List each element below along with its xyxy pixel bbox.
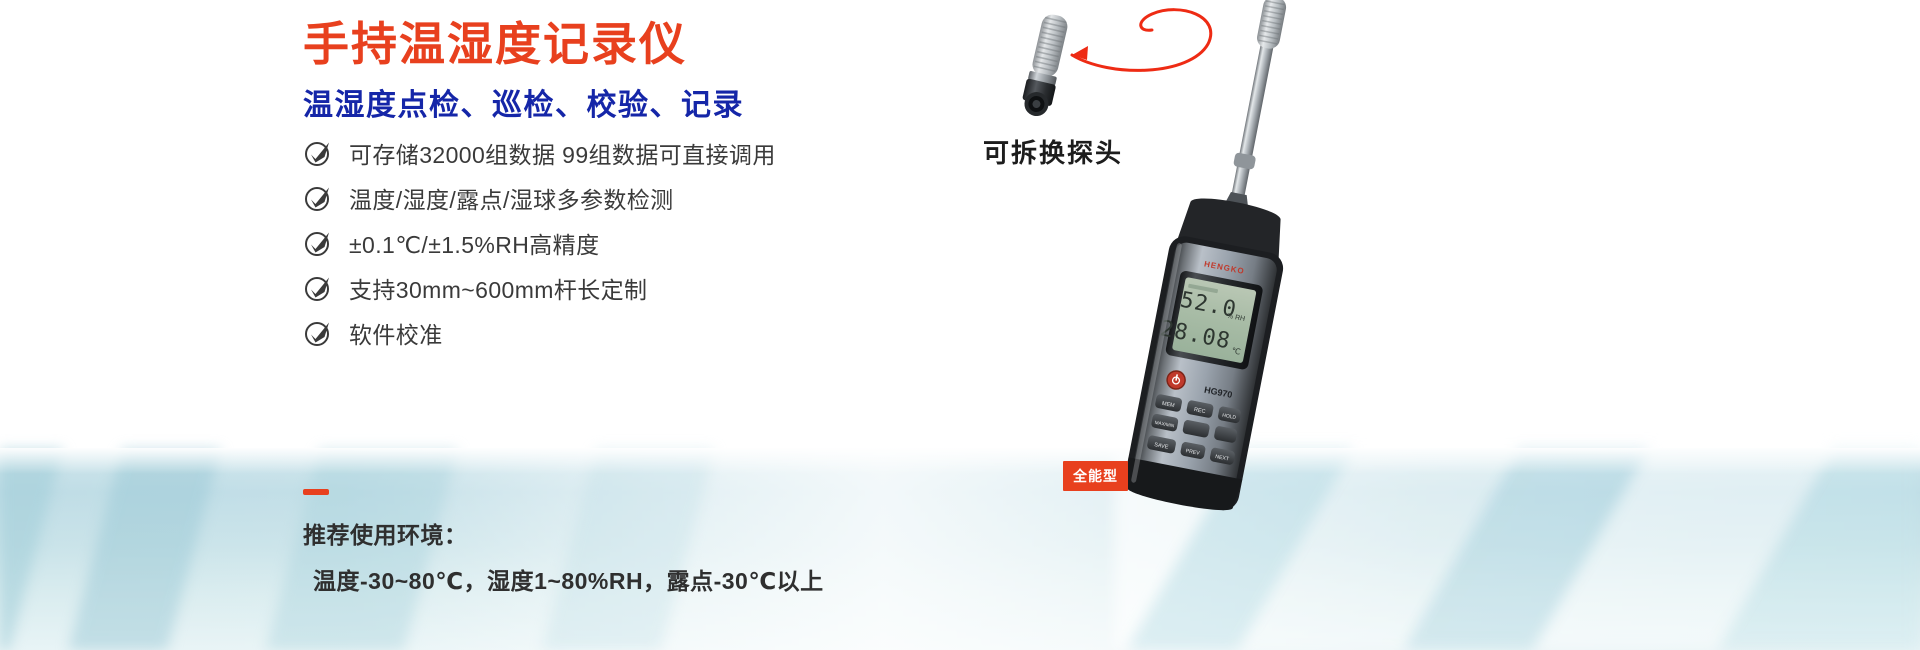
check-circle-icon xyxy=(303,228,333,258)
list-item: 可存储32000组数据 99组数据可直接调用 xyxy=(303,130,776,175)
probe-label: 可拆换探头 xyxy=(983,133,1123,170)
product-banner: 手持温湿度记录仪 温湿度点检、巡检、校验、记录 可存储32000组数据 99组数… xyxy=(0,0,1920,650)
feature-text: 支持30mm~600mm杆长定制 xyxy=(349,271,647,305)
environment-detail: 温度-30~80℃，湿度1~80%RH，露点-30℃以上 xyxy=(303,562,824,596)
list-item: ±0.1℃/±1.5%RH高精度 xyxy=(303,220,776,265)
environment-block: 推荐使用环境： 温度-30~80℃，湿度1~80%RH，露点-30℃以上 xyxy=(303,516,824,596)
check-circle-icon xyxy=(303,138,333,168)
band-top-fade xyxy=(0,448,1920,474)
list-item: 支持30mm~600mm杆长定制 xyxy=(303,265,776,310)
svg-text:℃: ℃ xyxy=(1231,346,1242,357)
environment-title: 推荐使用环境： xyxy=(303,516,824,550)
list-item: 软件校准 xyxy=(303,310,776,355)
feature-list: 可存储32000组数据 99组数据可直接调用 温度/湿度/露点/湿球多参数检测 … xyxy=(303,130,776,355)
feature-text: ±0.1℃/±1.5%RH高精度 xyxy=(349,226,599,260)
page-title: 手持温湿度记录仪 xyxy=(303,8,687,74)
list-item: 温度/湿度/露点/湿球多参数检测 xyxy=(303,175,776,220)
feature-text: 可存储32000组数据 99组数据可直接调用 xyxy=(349,136,776,170)
background-photo-band xyxy=(0,448,1920,650)
feature-text: 软件校准 xyxy=(349,316,443,350)
red-dash-divider xyxy=(303,489,329,495)
check-circle-icon xyxy=(303,318,333,348)
page-subtitle: 温湿度点检、巡检、校验、记录 xyxy=(303,80,744,124)
product-device-image: HENGKO 52.0 % RH 28.08 ℃ HG970 xyxy=(1060,0,1360,520)
check-circle-icon xyxy=(303,183,333,213)
check-circle-icon xyxy=(303,273,333,303)
feature-text: 温度/湿度/露点/湿球多参数检测 xyxy=(349,181,674,215)
status-badge: 全能型 xyxy=(1063,461,1128,491)
